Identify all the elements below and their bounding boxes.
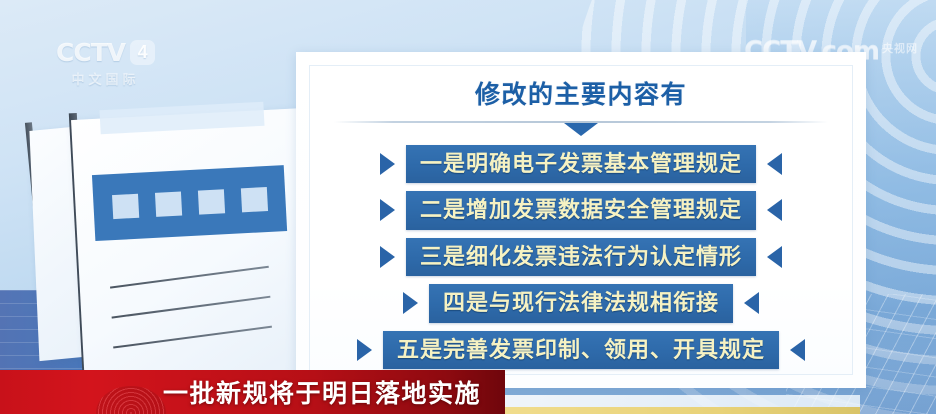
lower-third-yellow-strip — [505, 407, 860, 414]
caret-right-icon — [380, 246, 395, 268]
document-header-square — [154, 192, 181, 217]
document-text-line — [110, 266, 269, 289]
channel-number-badge: 4 — [130, 40, 155, 65]
document-header-square — [240, 187, 267, 212]
document-header-square — [197, 189, 224, 214]
caret-right-icon — [403, 292, 418, 314]
caret-left-icon — [767, 153, 782, 175]
logo-row: CCTV 4 — [56, 38, 155, 67]
document-front-page — [71, 108, 313, 392]
list-item: 五是完善发票印制、领用、开具规定 — [330, 331, 832, 370]
list-item: 四是与现行法律法规相衔接 — [330, 284, 832, 323]
lower-third-banner: 一批新规将于明日落地实施 — [0, 370, 505, 414]
caret-left-icon — [767, 199, 782, 221]
banner-emblem-icon — [96, 386, 166, 414]
content-panel: 修改的主要内容有 一是明确电子发票基本管理规定 二是增加发票数据安全管理规定 三… — [296, 52, 866, 388]
lower-third-white-strip — [505, 395, 860, 407]
caret-right-icon — [380, 153, 395, 175]
logo-subtitle: 中文国际 — [56, 69, 155, 88]
watermark-chinese-name: 央视网 — [882, 40, 918, 56]
list-item-label: 三是细化发票违法行为认定情形 — [406, 238, 756, 277]
list-item-label: 四是与现行法律法规相衔接 — [429, 284, 733, 323]
content-panel-inner: 修改的主要内容有 一是明确电子发票基本管理规定 二是增加发票数据安全管理规定 三… — [309, 65, 853, 375]
document-header-square — [112, 194, 139, 219]
caret-left-icon — [767, 246, 782, 268]
document-text-line — [112, 296, 271, 319]
list-item: 三是细化发票违法行为认定情形 — [330, 238, 832, 277]
page-title: 修改的主要内容有 — [330, 82, 832, 110]
list-item: 二是增加发票数据安全管理规定 — [330, 191, 832, 230]
cctv-wordmark: CCTV — [56, 38, 125, 67]
cctv4-channel-logo: CCTV 4 中文国际 — [56, 38, 155, 88]
caret-left-icon — [790, 339, 805, 361]
caret-right-icon — [380, 199, 395, 221]
caret-left-icon — [744, 292, 759, 314]
caret-right-icon — [357, 339, 372, 361]
document-header-bar — [92, 165, 287, 241]
list-item: 一是明确电子发票基本管理规定 — [330, 145, 832, 184]
list-item-label: 一是明确电子发票基本管理规定 — [406, 145, 756, 184]
bullet-list: 一是明确电子发票基本管理规定 二是增加发票数据安全管理规定 三是细化发票违法行为… — [330, 145, 832, 370]
document-text-line — [113, 326, 272, 349]
chevron-down-icon — [564, 123, 598, 136]
lower-third-headline: 一批新规将于明日落地实施 — [163, 374, 481, 410]
list-item-label: 五是完善发票印制、领用、开具规定 — [383, 331, 779, 370]
document-illustration — [20, 100, 320, 400]
list-item-label: 二是增加发票数据安全管理规定 — [406, 191, 756, 230]
broadcast-frame: CCTV 4 中文国际 CCTV.com 央视网 修改的主要内容有 — [0, 0, 936, 414]
